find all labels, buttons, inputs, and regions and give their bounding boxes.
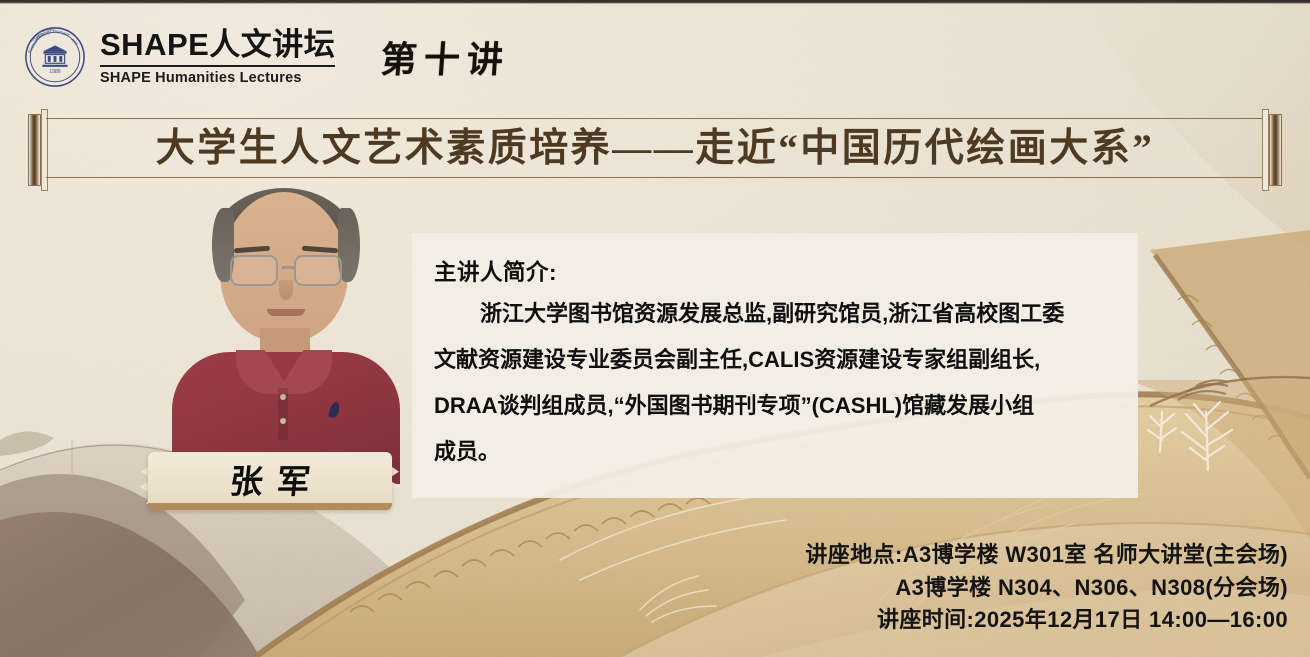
brand-header: 1980 ECONOMY SOCIETY HISTORY ART PHILOSO… xyxy=(24,26,510,88)
title-frame: 大学生人文艺术素质培养——走近“中国历代绘画大系” xyxy=(46,118,1264,178)
venue-line-2: A3博学楼 N304、N306、N308(分会场) xyxy=(805,572,1288,605)
portrait-glasses-right xyxy=(294,255,342,286)
bio-line: 文献资源建设专业委员会副主任,CALIS资源建设专家组副组长, xyxy=(434,349,1112,371)
shape-circular-seal-logo: 1980 ECONOMY SOCIETY HISTORY ART PHILOSO… xyxy=(24,26,86,88)
speaker-bio-panel: 主讲人简介: 浙江大学图书馆资源发展总监,副研究馆员,浙江省高校图工委 文献资源… xyxy=(412,233,1138,498)
portrait-glasses-bridge xyxy=(282,266,294,269)
portrait-nose xyxy=(279,280,293,300)
scroll-cap-right xyxy=(1262,109,1269,191)
portrait-button-bottom xyxy=(280,418,286,424)
event-details: 讲座地点:A3博学楼 W301室 名师大讲堂(主会场) A3博学楼 N304、N… xyxy=(805,539,1288,637)
svg-text:HISTORY: HISTORY xyxy=(53,28,72,38)
brand-name-cn: SHAPE人文讲坛 xyxy=(100,29,335,60)
episode-number: 第十讲 xyxy=(379,31,512,83)
speaker-name: 张军 xyxy=(145,452,395,510)
scroll-end-left xyxy=(28,114,41,186)
bio-line: 浙江大学图书馆资源发展总监,副研究馆员,浙江省高校图工委 xyxy=(434,303,1112,325)
poster-root: 1980 ECONOMY SOCIETY HISTORY ART PHILOSO… xyxy=(0,0,1310,657)
page-title: 大学生人文艺术素质培养——走近“中国历代绘画大系” xyxy=(156,129,1155,168)
venue-line-1: 讲座地点:A3博学楼 W301室 名师大讲堂(主会场) xyxy=(805,539,1288,572)
speaker-photo xyxy=(172,192,400,484)
time-line: 讲座时间:2025年12月17日 14:00—16:00 xyxy=(805,604,1288,637)
brand-name-en: SHAPE Humanities Lectures xyxy=(100,65,335,86)
scroll-end-right xyxy=(1269,114,1282,186)
portrait-glasses-left xyxy=(230,255,278,286)
portrait-button-top xyxy=(280,394,286,400)
speaker-name-plaque: 张军 xyxy=(148,452,392,510)
brand-text-block: SHAPE人文讲坛 SHAPE Humanities Lectures xyxy=(100,29,335,86)
bio-heading: 主讲人简介: xyxy=(434,255,1112,287)
portrait-mouth xyxy=(267,309,305,316)
bio-line: DRAA谈判组成员,“外国图书期刊专项”(CASHL)馆藏发展小组 xyxy=(434,395,1112,417)
top-edge-shadow xyxy=(0,0,1310,4)
bio-line: 成员。 xyxy=(434,441,1112,463)
svg-text:PHILOSOPHY: PHILOSOPHY xyxy=(29,26,54,43)
svg-text:1980: 1980 xyxy=(49,69,60,75)
title-scroll: 大学生人文艺术素质培养——走近“中国历代绘画大系” xyxy=(28,118,1282,180)
